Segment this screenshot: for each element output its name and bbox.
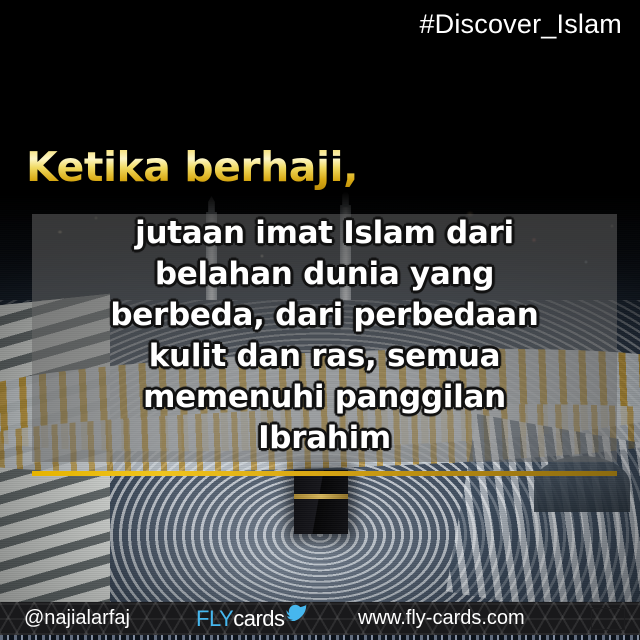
flycards-logo[interactable]: FLYcards: [196, 606, 310, 632]
quote-line: kulit dan ras, semua: [32, 336, 617, 377]
photo-dome: [534, 456, 630, 512]
quote-line: berbeda, dari perbedaan: [32, 295, 617, 336]
quote-text-block: jutaan imat Islam dari belahan dunia yan…: [32, 213, 617, 459]
gold-divider: [32, 471, 617, 476]
photo-kaaba: [294, 470, 348, 534]
discover-islam-quote-card: #Discover_Islam Ketika berhaji, jutaan i…: [0, 0, 640, 640]
quote-line: belahan dunia yang: [32, 254, 617, 295]
bird-icon: [286, 603, 310, 625]
website-url[interactable]: www.fly-cards.com: [358, 607, 525, 630]
quote-line: jutaan imat Islam dari: [32, 213, 617, 254]
flycards-logo-fly: FLY: [196, 606, 233, 632]
footer-bar: @najialarfaj FLYcards www.fly-cards.com: [0, 602, 640, 635]
headline-text: Ketika berhaji,: [26, 143, 358, 191]
footer-photo-strip: [0, 635, 640, 640]
indonesia-flag-icon: [591, 608, 625, 630]
author-handle[interactable]: @najialarfaj: [24, 607, 130, 630]
quote-line: memenuhi panggilan: [32, 377, 617, 418]
flycards-logo-cards: cards: [233, 606, 284, 632]
quote-line: Ibrahim: [32, 418, 617, 459]
hashtag-label: #Discover_Islam: [419, 9, 622, 40]
